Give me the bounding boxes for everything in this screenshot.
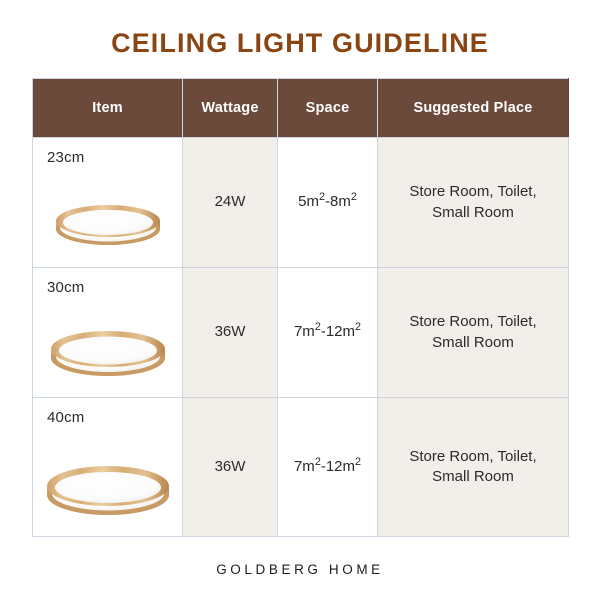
cell-wattage: 36W (183, 268, 278, 398)
guideline-table: Item Wattage Space Suggested Place 23cm (32, 78, 569, 537)
table-row: 40cm (33, 398, 569, 537)
cell-suggested-place: Store Room, Toilet, Small Room (378, 268, 569, 398)
brand-footer: GOLDBERG HOME (0, 562, 600, 577)
cell-space: 7m2-12m2 (278, 398, 378, 537)
ceiling-light-icon (33, 466, 182, 520)
cell-space: 7m2-12m2 (278, 268, 378, 398)
ceiling-light-guideline-page: CEILING LIGHT GUIDELINE Item Wattage Spa… (0, 0, 600, 601)
table-body: 23cm (33, 138, 569, 537)
column-header-wattage: Wattage (183, 79, 278, 138)
suggested-place-value: Store Room, Toilet, Small Room (378, 312, 568, 353)
suggested-place-value: Store Room, Toilet, Small Room (378, 182, 568, 223)
ceiling-light-icon (33, 331, 182, 381)
guideline-table-wrapper: Item Wattage Space Suggested Place 23cm (32, 78, 568, 537)
cell-space: 5m2-8m2 (278, 138, 378, 268)
cell-item: 23cm (33, 138, 183, 268)
table-header-row: Item Wattage Space Suggested Place (33, 79, 569, 138)
cell-wattage: 36W (183, 398, 278, 537)
cell-wattage: 24W (183, 138, 278, 268)
table-row: 30cm (33, 268, 569, 398)
item-size-label: 23cm (47, 148, 84, 168)
page-title: CEILING LIGHT GUIDELINE (0, 28, 600, 59)
cell-suggested-place: Store Room, Toilet, Small Room (378, 398, 569, 537)
cell-item: 40cm (33, 398, 183, 537)
cell-item: 30cm (33, 268, 183, 398)
space-value: 5m2-8m2 (298, 193, 357, 210)
column-header-item: Item (33, 79, 183, 138)
cell-suggested-place: Store Room, Toilet, Small Room (378, 138, 569, 268)
item-size-label: 40cm (47, 408, 84, 428)
space-value: 7m2-12m2 (294, 323, 361, 340)
column-header-suggested-place: Suggested Place (378, 79, 569, 138)
column-header-space: Space (278, 79, 378, 138)
table-row: 23cm (33, 138, 569, 268)
table-header: Item Wattage Space Suggested Place (33, 79, 569, 138)
suggested-place-value: Store Room, Toilet, Small Room (378, 447, 568, 488)
ceiling-light-icon (33, 205, 182, 251)
item-size-label: 30cm (47, 278, 84, 298)
space-value: 7m2-12m2 (294, 458, 361, 475)
